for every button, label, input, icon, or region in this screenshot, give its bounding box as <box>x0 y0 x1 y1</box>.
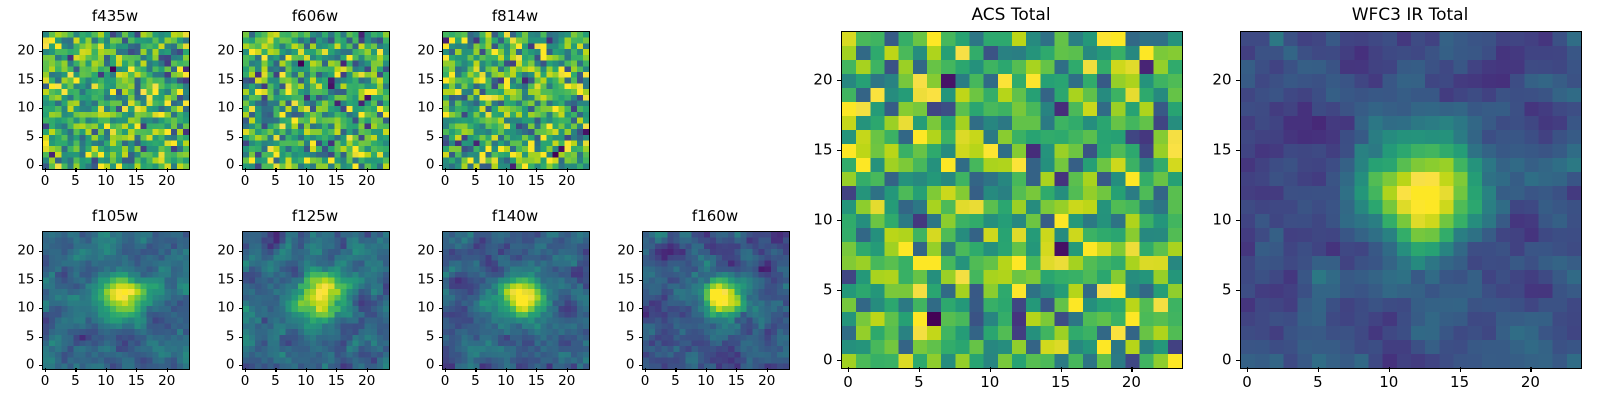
yticklabel-f435w-3: 15 <box>0 73 35 87</box>
ytick-f606w-0 <box>239 165 243 166</box>
ytick-wfc3_total-4 <box>1236 80 1241 81</box>
xticklabel-wfc3_total-4: 20 <box>1521 375 1540 390</box>
xtick-wfc3_total-4 <box>1530 367 1531 372</box>
xtick-wfc3_total-1 <box>1318 367 1319 372</box>
xtick-f814w-3 <box>536 168 537 172</box>
xticklabel-f435w-0: 0 <box>41 175 50 189</box>
yticklabel-f160w-2: 10 <box>535 301 635 315</box>
axes-wfc3_total <box>1240 31 1582 369</box>
xticklabel-acs_total-3: 15 <box>1051 375 1070 390</box>
yticklabel-f435w-1: 5 <box>0 130 35 144</box>
ytick-f814w-0 <box>439 165 443 166</box>
yticklabel-f140w-1: 5 <box>335 330 435 344</box>
xticklabel-f140w-0: 0 <box>441 375 450 389</box>
xtick-f160w-3 <box>736 368 737 372</box>
ytick-f160w-0 <box>639 365 643 366</box>
xticklabel-f140w-3: 15 <box>528 375 545 389</box>
ytick-acs_total-0 <box>837 360 842 361</box>
ytick-f435w-1 <box>39 137 43 138</box>
ytick-acs_total-3 <box>837 150 842 151</box>
xtick-f160w-0 <box>645 368 646 372</box>
xticklabel-f105w-1: 5 <box>71 375 80 389</box>
panel-title-f435w: f435w <box>42 9 188 24</box>
yticklabel-f814w-2: 10 <box>335 101 435 115</box>
ytick-f606w-3 <box>239 80 243 81</box>
heatmap-wfc3_total <box>1241 32 1581 368</box>
ytick-f125w-1 <box>239 337 243 338</box>
yticklabel-f140w-0: 0 <box>335 358 435 372</box>
ytick-f160w-3 <box>639 280 643 281</box>
ytick-f435w-4 <box>39 51 43 52</box>
xtick-wfc3_total-3 <box>1460 367 1461 372</box>
xticklabel-f814w-1: 5 <box>471 175 480 189</box>
xtick-f140w-0 <box>445 368 446 372</box>
ytick-f105w-3 <box>39 280 43 281</box>
xtick-f435w-2 <box>106 168 107 172</box>
yticklabel-f125w-4: 20 <box>135 244 235 258</box>
ytick-f140w-2 <box>439 308 443 309</box>
xticklabel-acs_total-1: 5 <box>914 375 924 390</box>
ytick-f160w-1 <box>639 337 643 338</box>
xtick-f606w-2 <box>306 168 307 172</box>
xticklabel-f435w-1: 5 <box>71 175 80 189</box>
xticklabel-acs_total-2: 10 <box>980 375 999 390</box>
yticklabel-wfc3_total-1: 5 <box>1132 283 1232 298</box>
xticklabel-f140w-1: 5 <box>471 375 480 389</box>
ytick-wfc3_total-0 <box>1236 360 1241 361</box>
yticklabel-f606w-2: 10 <box>135 101 235 115</box>
panel-title-acs_total: ACS Total <box>841 7 1181 24</box>
yticklabel-acs_total-2: 10 <box>733 213 833 228</box>
xticklabel-f160w-1: 5 <box>671 375 680 389</box>
xticklabel-f606w-2: 10 <box>297 175 314 189</box>
panel-title-f140w: f140w <box>442 209 588 224</box>
ytick-wfc3_total-2 <box>1236 220 1241 221</box>
xtick-f160w-2 <box>706 368 707 372</box>
yticklabel-wfc3_total-3: 15 <box>1132 143 1232 158</box>
xticklabel-wfc3_total-2: 10 <box>1379 375 1398 390</box>
xtick-f105w-2 <box>106 368 107 372</box>
ytick-f140w-4 <box>439 251 443 252</box>
xticklabel-f125w-2: 10 <box>297 375 314 389</box>
yticklabel-f105w-1: 5 <box>0 330 35 344</box>
ytick-f606w-4 <box>239 51 243 52</box>
xticklabel-f606w-1: 5 <box>271 175 280 189</box>
ytick-f140w-1 <box>439 337 443 338</box>
xticklabel-acs_total-0: 0 <box>843 375 853 390</box>
xticklabel-wfc3_total-0: 0 <box>1242 375 1252 390</box>
xtick-f105w-0 <box>45 368 46 372</box>
xticklabel-wfc3_total-3: 15 <box>1450 375 1469 390</box>
ytick-wfc3_total-3 <box>1236 150 1241 151</box>
yticklabel-f814w-1: 5 <box>335 130 435 144</box>
xtick-f125w-2 <box>306 368 307 372</box>
yticklabel-acs_total-4: 20 <box>733 73 833 88</box>
ytick-f140w-3 <box>439 280 443 281</box>
xticklabel-f125w-0: 0 <box>241 375 250 389</box>
yticklabel-acs_total-3: 15 <box>733 143 833 158</box>
yticklabel-f606w-3: 15 <box>135 73 235 87</box>
xticklabel-acs_total-4: 20 <box>1122 375 1141 390</box>
xtick-f435w-0 <box>45 168 46 172</box>
ytick-f125w-2 <box>239 308 243 309</box>
ytick-acs_total-1 <box>837 290 842 291</box>
ytick-f125w-0 <box>239 365 243 366</box>
panel-title-f606w: f606w <box>242 9 388 24</box>
axes-f160w <box>642 231 790 370</box>
ytick-f140w-0 <box>439 365 443 366</box>
xtick-f814w-4 <box>567 168 568 172</box>
yticklabel-f606w-0: 0 <box>135 158 235 172</box>
xtick-f125w-1 <box>275 368 276 372</box>
xticklabel-f160w-4: 20 <box>758 375 775 389</box>
panel-title-f814w: f814w <box>442 9 588 24</box>
yticklabel-f606w-1: 5 <box>135 130 235 144</box>
yticklabel-f125w-1: 5 <box>135 330 235 344</box>
yticklabel-f105w-3: 15 <box>0 273 35 287</box>
yticklabel-f125w-0: 0 <box>135 358 235 372</box>
xtick-acs_total-3 <box>1061 367 1062 372</box>
xticklabel-f606w-0: 0 <box>241 175 250 189</box>
ytick-wfc3_total-1 <box>1236 290 1241 291</box>
axes-f814w <box>442 31 590 170</box>
ytick-f105w-1 <box>39 337 43 338</box>
xtick-f125w-0 <box>245 368 246 372</box>
ytick-f125w-4 <box>239 251 243 252</box>
ytick-f814w-3 <box>439 80 443 81</box>
xticklabel-f606w-4: 20 <box>358 175 375 189</box>
xtick-f140w-2 <box>506 368 507 372</box>
panel-title-wfc3_total: WFC3 IR Total <box>1240 7 1580 24</box>
yticklabel-f435w-0: 0 <box>0 158 35 172</box>
xticklabel-f140w-2: 10 <box>497 375 514 389</box>
xticklabel-f125w-3: 15 <box>328 375 345 389</box>
ytick-f125w-3 <box>239 280 243 281</box>
xticklabel-wfc3_total-1: 5 <box>1313 375 1323 390</box>
yticklabel-f125w-2: 10 <box>135 301 235 315</box>
yticklabel-wfc3_total-4: 20 <box>1132 73 1232 88</box>
xticklabel-f814w-4: 20 <box>558 175 575 189</box>
ytick-f160w-2 <box>639 308 643 309</box>
xticklabel-f814w-2: 10 <box>497 175 514 189</box>
xtick-f160w-4 <box>767 368 768 372</box>
yticklabel-acs_total-0: 0 <box>733 353 833 368</box>
ytick-f105w-0 <box>39 365 43 366</box>
xtick-acs_total-4 <box>1131 367 1132 372</box>
xticklabel-f140w-4: 20 <box>558 375 575 389</box>
xticklabel-f105w-4: 20 <box>158 375 175 389</box>
xtick-f814w-2 <box>506 168 507 172</box>
panel-title-f105w: f105w <box>42 209 188 224</box>
yticklabel-f435w-2: 10 <box>0 101 35 115</box>
xtick-f435w-1 <box>75 168 76 172</box>
yticklabel-f814w-4: 20 <box>335 44 435 58</box>
yticklabel-f606w-4: 20 <box>135 44 235 58</box>
xtick-f160w-1 <box>675 368 676 372</box>
yticklabel-f105w-0: 0 <box>0 358 35 372</box>
panel-title-f125w: f125w <box>242 209 388 224</box>
xtick-f606w-1 <box>275 168 276 172</box>
yticklabel-f140w-2: 10 <box>335 301 435 315</box>
yticklabel-f435w-4: 20 <box>0 44 35 58</box>
xticklabel-f105w-2: 10 <box>97 375 114 389</box>
yticklabel-f160w-1: 5 <box>535 330 635 344</box>
figure-canvas: f435w0510152005101520f606w05101520051015… <box>0 0 1600 400</box>
yticklabel-f140w-4: 20 <box>335 244 435 258</box>
yticklabel-f160w-0: 0 <box>535 358 635 372</box>
xtick-wfc3_total-2 <box>1389 367 1390 372</box>
xticklabel-f435w-4: 20 <box>158 175 175 189</box>
xticklabel-f160w-3: 15 <box>728 375 745 389</box>
yticklabel-f105w-4: 20 <box>0 244 35 258</box>
ytick-f160w-4 <box>639 251 643 252</box>
yticklabel-f814w-3: 15 <box>335 73 435 87</box>
ytick-acs_total-2 <box>837 220 842 221</box>
xticklabel-f160w-0: 0 <box>641 375 650 389</box>
yticklabel-wfc3_total-0: 0 <box>1132 353 1232 368</box>
yticklabel-f125w-3: 15 <box>135 273 235 287</box>
xticklabel-f105w-0: 0 <box>41 375 50 389</box>
yticklabel-wfc3_total-2: 10 <box>1132 213 1232 228</box>
xtick-f606w-0 <box>245 168 246 172</box>
ytick-f606w-2 <box>239 108 243 109</box>
ytick-f105w-2 <box>39 308 43 309</box>
yticklabel-f160w-3: 15 <box>535 273 635 287</box>
yticklabel-acs_total-1: 5 <box>733 283 833 298</box>
xtick-acs_total-2 <box>990 367 991 372</box>
xticklabel-f435w-3: 15 <box>128 175 145 189</box>
yticklabel-f160w-4: 20 <box>535 244 635 258</box>
xticklabel-f125w-4: 20 <box>358 375 375 389</box>
yticklabel-f140w-3: 15 <box>335 273 435 287</box>
ytick-f814w-4 <box>439 51 443 52</box>
heatmap-f160w <box>643 232 789 369</box>
ytick-f105w-4 <box>39 251 43 252</box>
xtick-f814w-1 <box>475 168 476 172</box>
xticklabel-f125w-1: 5 <box>271 375 280 389</box>
yticklabel-f105w-2: 10 <box>0 301 35 315</box>
xtick-wfc3_total-0 <box>1247 367 1248 372</box>
xtick-f814w-0 <box>445 168 446 172</box>
xticklabel-f160w-2: 10 <box>697 375 714 389</box>
xticklabel-f814w-0: 0 <box>441 175 450 189</box>
ytick-f435w-2 <box>39 108 43 109</box>
xtick-acs_total-0 <box>848 367 849 372</box>
ytick-f814w-2 <box>439 108 443 109</box>
ytick-acs_total-4 <box>837 80 842 81</box>
xtick-f105w-1 <box>75 368 76 372</box>
ytick-f814w-1 <box>439 137 443 138</box>
ytick-f435w-3 <box>39 80 43 81</box>
xtick-acs_total-1 <box>919 367 920 372</box>
ytick-f606w-1 <box>239 137 243 138</box>
ytick-f435w-0 <box>39 165 43 166</box>
yticklabel-f814w-0: 0 <box>335 158 435 172</box>
xticklabel-f105w-3: 15 <box>128 375 145 389</box>
xticklabel-f606w-3: 15 <box>328 175 345 189</box>
xtick-f140w-1 <box>475 368 476 372</box>
xticklabel-f435w-2: 10 <box>97 175 114 189</box>
xticklabel-f814w-3: 15 <box>528 175 545 189</box>
heatmap-f814w <box>443 32 589 169</box>
